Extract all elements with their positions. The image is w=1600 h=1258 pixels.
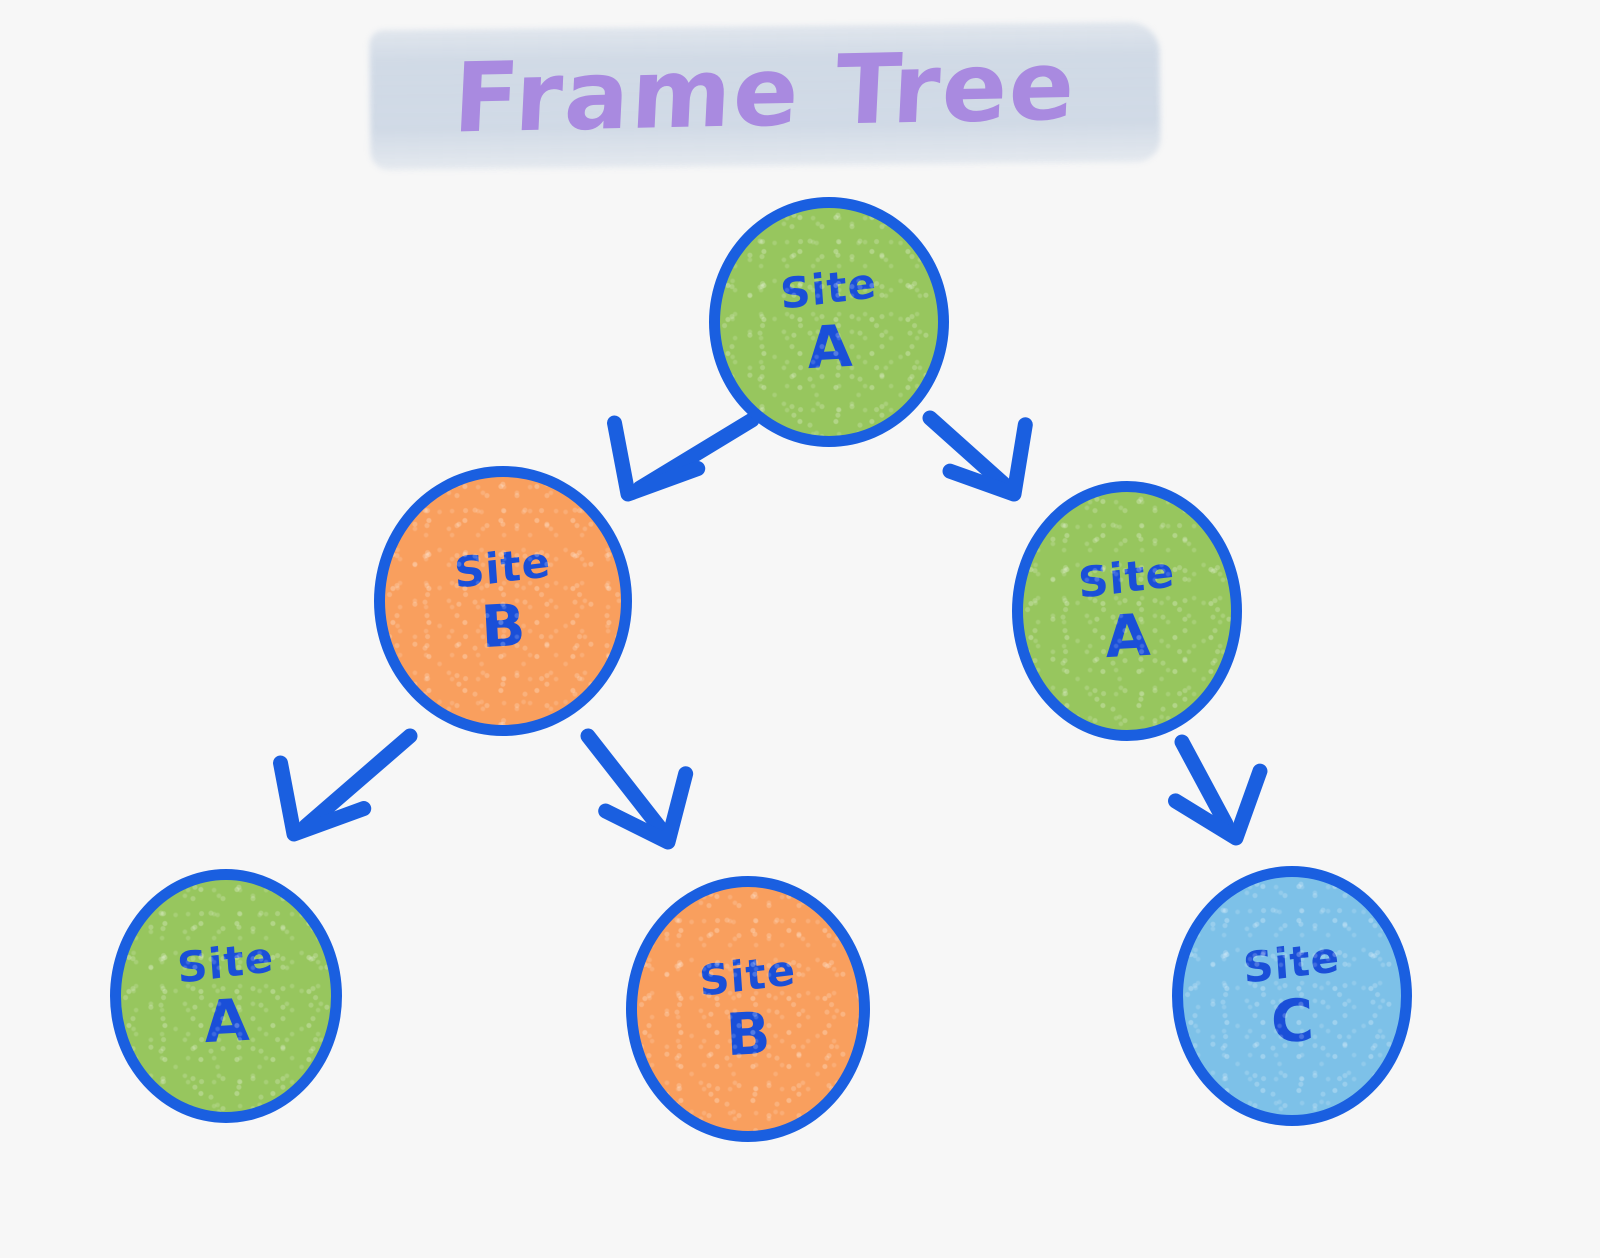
page-title: Frame Tree	[367, 22, 1163, 164]
node-label-site: Site	[779, 262, 878, 316]
edge-root-to-b	[615, 415, 752, 495]
node-root-site-a[interactable]: Site A	[709, 197, 949, 447]
node-label-letter: C	[1269, 991, 1315, 1051]
node-label-letter: A	[1103, 606, 1151, 666]
node-label-letter: A	[202, 991, 250, 1051]
edge-b-to-a	[281, 736, 410, 835]
node-label-letter: B	[724, 1004, 771, 1064]
edge-a-to-c	[1171, 742, 1260, 840]
node-level2-site-b[interactable]: Site B	[626, 876, 870, 1142]
node-label-site: Site	[1077, 551, 1176, 605]
node-label-site: Site	[176, 936, 275, 990]
node-label-letter: A	[805, 317, 853, 377]
frame-tree-diagram: Frame Tree Site A	[0, 0, 1600, 1258]
edge-b-to-b	[588, 736, 686, 843]
edge-root-to-a	[930, 417, 1025, 494]
node-level1-site-a[interactable]: Site A	[1012, 481, 1242, 741]
node-label-letter: B	[479, 596, 526, 656]
node-label-site: Site	[1242, 936, 1341, 990]
node-level1-site-b[interactable]: Site B	[374, 466, 632, 736]
diagram-title: Frame Tree	[370, 18, 1160, 168]
node-label-site: Site	[698, 949, 797, 1003]
node-level2-site-c[interactable]: Site C	[1172, 866, 1412, 1126]
node-label-site: Site	[453, 541, 552, 595]
node-level2-site-a[interactable]: Site A	[110, 869, 342, 1123]
